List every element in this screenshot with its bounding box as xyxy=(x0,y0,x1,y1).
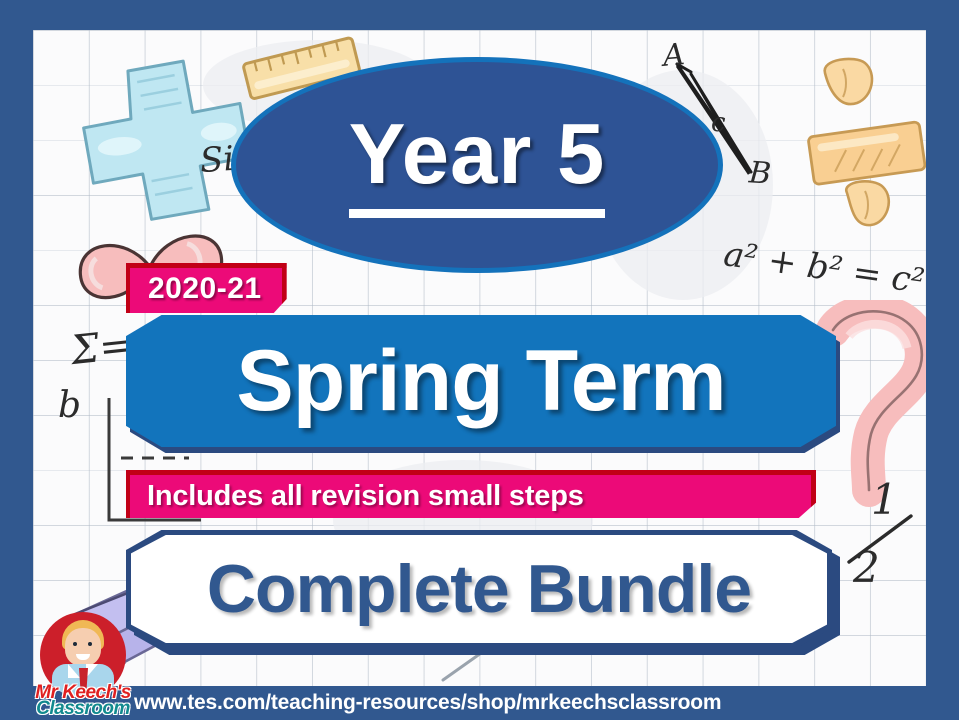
footer-url-bar: www.tes.com/teaching-resources/shop/mrke… xyxy=(0,686,959,720)
sine-word-doodle: Si xyxy=(199,139,236,181)
revision-label: Includes all revision small steps xyxy=(147,480,584,513)
brand-logo: Mr Keech's Classroom xyxy=(27,612,139,720)
academic-year-tag: 2020-21 xyxy=(126,263,287,313)
term-banner: Spring Term xyxy=(126,315,836,447)
bundle-banner: Complete Bundle xyxy=(126,530,832,648)
bundle-label: Complete Bundle xyxy=(207,555,751,623)
triangle-vertex-b-label: B xyxy=(748,155,772,191)
year-badge: Year 5 xyxy=(231,57,723,273)
avatar-collar-left xyxy=(68,664,80,678)
avatar-face xyxy=(65,628,101,666)
year-label: Year 5 xyxy=(349,112,606,218)
bundle-banner-inner: Complete Bundle xyxy=(131,535,827,643)
triangle-side-c-label: c xyxy=(711,108,726,138)
logo-brand-subtitle: Classroom xyxy=(27,698,139,720)
axis-label-b: b xyxy=(58,385,81,426)
avatar-eye-right xyxy=(88,642,92,646)
revision-banner: Includes all revision small steps xyxy=(126,470,816,518)
triangle-vertex-a-label: A xyxy=(662,37,687,74)
avatar-eye-left xyxy=(73,642,77,646)
term-label: Spring Term xyxy=(236,338,725,424)
chalk-shapes-doodle xyxy=(803,55,926,235)
sigma-doodle: Σ= xyxy=(69,322,135,374)
fraction-denominator-doodle: 2 xyxy=(853,543,880,592)
pythagoras-formula-doodle: a² + b² = c² xyxy=(721,234,926,302)
academic-year-label: 2020-21 xyxy=(148,272,262,305)
footer-url-text: www.tes.com/teaching-resources/shop/mrke… xyxy=(134,691,721,715)
poster-canvas: Si A c B a² + b² = c² Σ= b xyxy=(0,0,959,720)
fraction-numerator-doodle: 1 xyxy=(871,475,898,524)
